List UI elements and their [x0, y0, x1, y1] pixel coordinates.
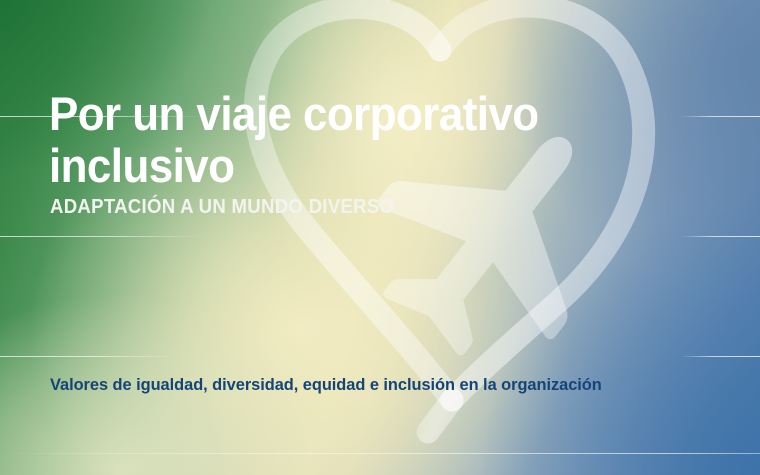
decorative-artwork: [0, 0, 760, 475]
rule-bottom-strip: [0, 453, 760, 454]
rule-right-2: [680, 236, 760, 237]
heart-tail-icon: [428, 400, 452, 432]
page-subtitle: ADAPTACIÓN A UN MUNDO DIVERSO: [50, 195, 394, 219]
rule-right-3: [680, 356, 760, 357]
rule-left-2: [0, 236, 205, 237]
promo-banner: Por un viaje corporativo inclusivo ADAPT…: [0, 0, 760, 475]
page-tagline: Valores de igualdad, diversidad, equidad…: [50, 374, 602, 396]
background-blue-corner-glow: [0, 0, 760, 475]
background-pale-bottom-glow: [0, 0, 760, 475]
background-green-corner-glow: [0, 0, 760, 475]
background-gradient-base: [0, 0, 760, 475]
page-title: Por un viaje corporativo inclusivo: [49, 88, 610, 192]
rule-right-1: [680, 116, 760, 117]
rule-left-3: [0, 356, 178, 357]
background-cream-bloom-upper: [0, 0, 760, 475]
background-cream-bloom: [0, 0, 760, 475]
heart-outline-right-icon: [440, 6, 644, 400]
